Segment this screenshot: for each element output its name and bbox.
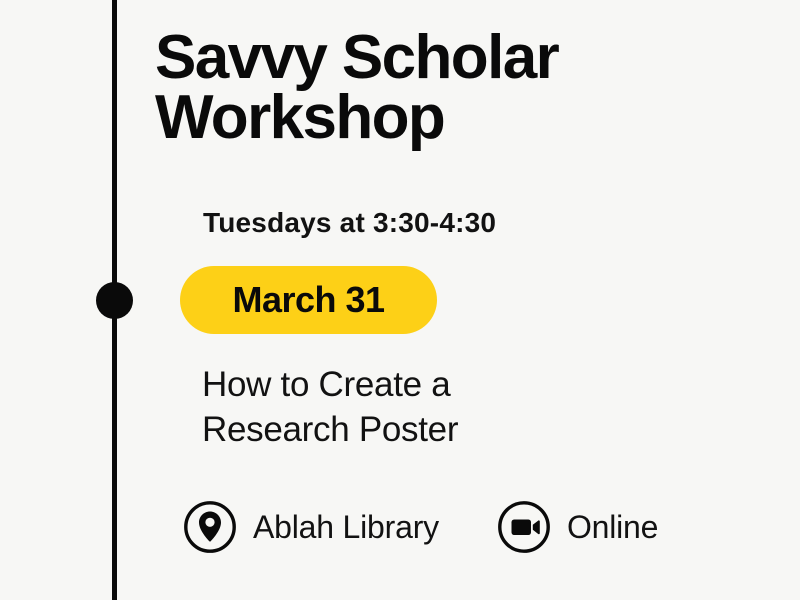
workshop-poster: Savvy Scholar Workshop Tuesdays at 3:30-… [0, 0, 800, 600]
schedule-subtitle: Tuesdays at 3:30-4:30 [203, 207, 496, 239]
session-line-2: Research Poster [202, 408, 722, 453]
location-item-online: Online [497, 500, 658, 554]
session-title: How to Create a Research Poster [202, 363, 722, 453]
location-label-online: Online [567, 509, 658, 546]
video-camera-icon [497, 500, 551, 554]
title-line-1: Savvy Scholar [155, 28, 755, 88]
poster-content: Savvy Scholar Workshop Tuesdays at 3:30-… [0, 0, 800, 600]
location-list: Ablah Library Online [183, 500, 658, 554]
session-line-1: How to Create a [202, 363, 722, 408]
date-badge: March 31 [180, 266, 437, 334]
location-label-library: Ablah Library [253, 509, 439, 546]
map-pin-icon [183, 500, 237, 554]
page-title: Savvy Scholar Workshop [155, 28, 755, 147]
date-badge-label: March 31 [232, 282, 384, 318]
title-line-2: Workshop [155, 88, 755, 148]
location-item-library: Ablah Library [183, 500, 439, 554]
